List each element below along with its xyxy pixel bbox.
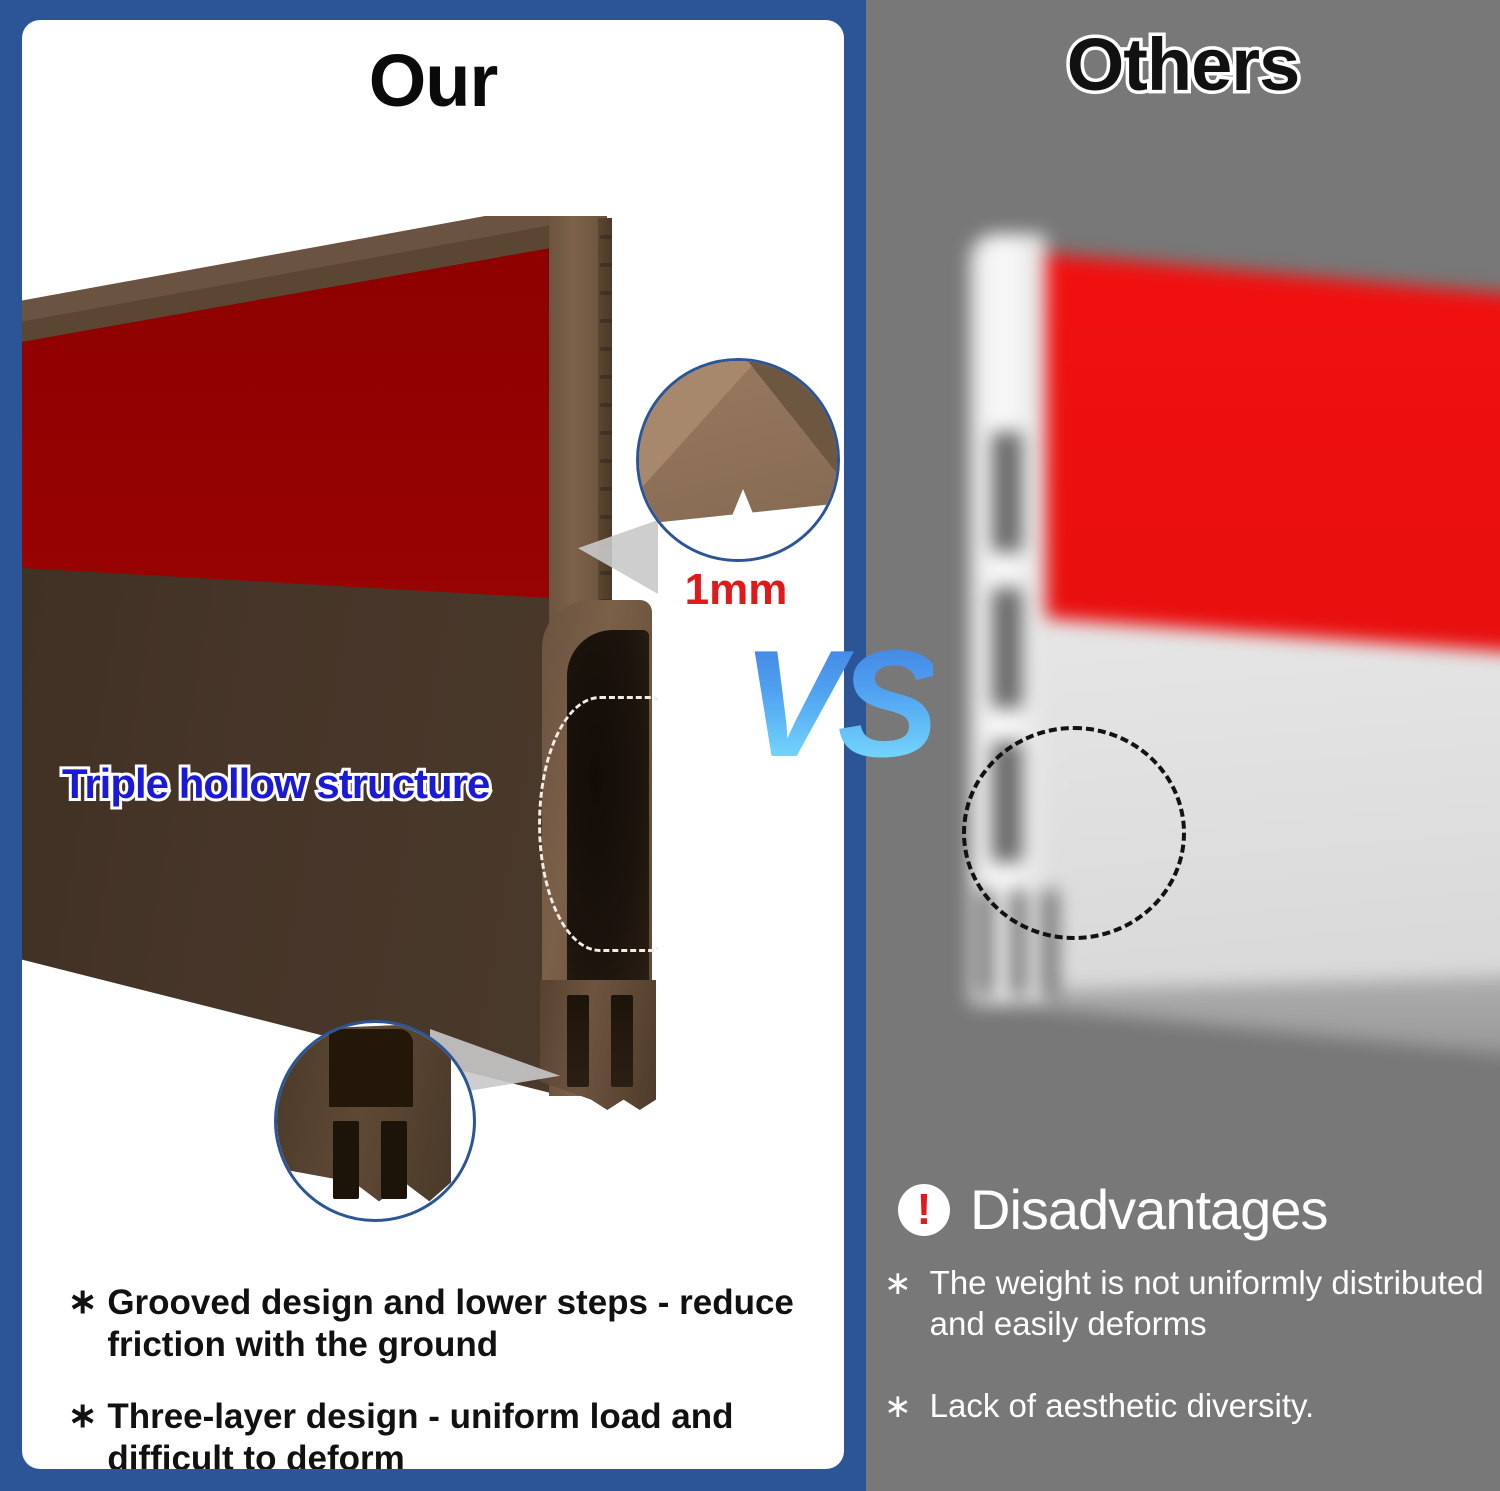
disadvantages-heading: ! Disadvantages xyxy=(898,1182,1327,1238)
bullet-marker-icon: ∗ xyxy=(884,1262,912,1345)
seal-groove-slot-2 xyxy=(611,995,633,1087)
our-panel: Our xyxy=(0,0,866,1491)
others-product-illustration xyxy=(866,0,1500,1160)
magnifier-bottom-groove-2 xyxy=(381,1121,407,1199)
bullet-marker-icon: ∗ xyxy=(68,1396,97,1469)
list-item: ∗ Lack of aesthetic diversity. xyxy=(884,1385,1484,1426)
vs-label: VS xyxy=(742,628,933,780)
others-hollow-chamber-2 xyxy=(992,588,1022,708)
warning-exclamation-icon: ! xyxy=(898,1184,950,1236)
our-panel-inner: Our xyxy=(22,20,844,1469)
our-product-illustration xyxy=(22,20,844,1420)
comparison-infographic: Our xyxy=(0,0,1500,1491)
list-item-text: Three-layer design - uniform load and di… xyxy=(107,1396,838,1469)
magnifier-bottom-groove-1 xyxy=(333,1121,359,1199)
magnifier-circle-bottom xyxy=(274,1020,476,1222)
hollow-chamber-dashed-outline xyxy=(538,696,662,952)
disadvantages-title-text: Disadvantages xyxy=(970,1182,1327,1238)
others-dashed-highlight-ellipse xyxy=(962,726,1186,940)
triple-hollow-structure-label: Triple hollow structure xyxy=(62,760,489,808)
others-hollow-chamber-1 xyxy=(992,432,1022,552)
list-item-text: Lack of aesthetic diversity. xyxy=(930,1385,1484,1426)
list-item: ∗ Grooved design and lower steps - reduc… xyxy=(68,1282,838,1366)
bullet-marker-icon: ∗ xyxy=(884,1385,912,1426)
list-item: ∗ Three-layer design - uniform load and … xyxy=(68,1396,838,1469)
seal-groove-slot-1 xyxy=(567,995,589,1087)
bullet-marker-icon: ∗ xyxy=(68,1282,97,1366)
list-item-text: Grooved design and lower steps - reduce … xyxy=(107,1282,838,1366)
magnifier-circle-top xyxy=(636,358,840,562)
list-item: ∗ The weight is not uniformly distribute… xyxy=(884,1262,1484,1345)
our-advantages-list: ∗ Grooved design and lower steps - reduc… xyxy=(68,1282,838,1469)
measurement-label-1mm: 1mm xyxy=(634,565,838,615)
list-item-text: The weight is not uniformly distributed … xyxy=(930,1262,1484,1345)
magnifier-bottom-chamber xyxy=(329,1029,413,1107)
others-disadvantages-list: ∗ The weight is not uniformly distribute… xyxy=(884,1262,1484,1466)
